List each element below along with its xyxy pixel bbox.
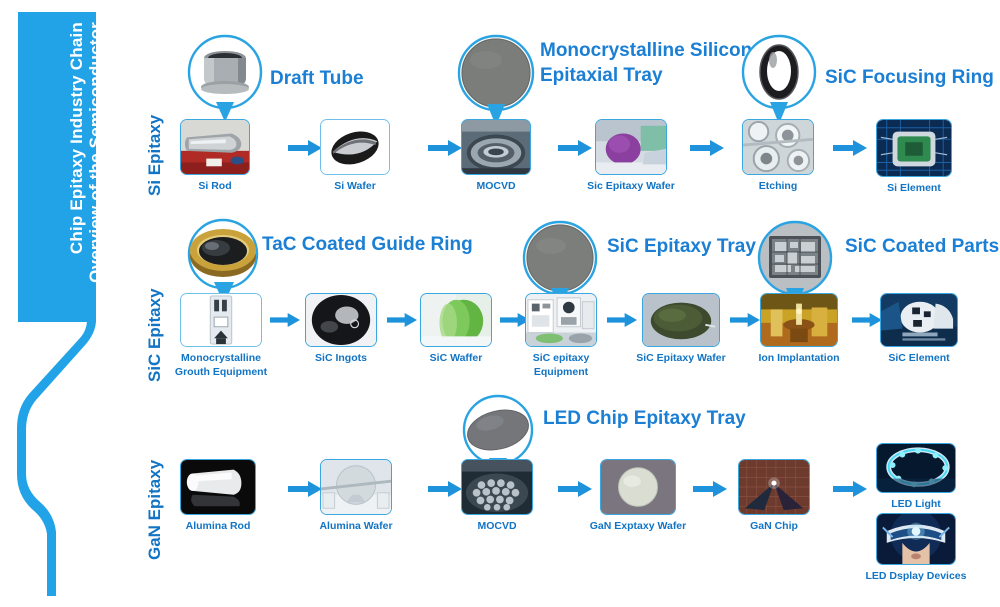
caption-led-light: LED Light [891, 497, 941, 511]
gan-epitaxy-wafer-photo [601, 460, 675, 514]
caption-growth-equipment: Monocrystalline Grouth Equipment [169, 351, 273, 379]
arrow-ingots-to-wafer [387, 312, 417, 333]
ion-implantation-photo [761, 294, 837, 346]
sic-element-photo [881, 294, 957, 346]
arrow-mocvd-to-gan-wafer [558, 481, 592, 502]
thumb-si-wafer[interactable] [320, 119, 390, 175]
step-gan-chip[interactable]: GaN Chip [738, 459, 810, 515]
callout-epitaxial-tray [456, 32, 536, 132]
step-led-display-devices[interactable]: LED Dsplay Devices [876, 513, 956, 565]
arrow-gan-wafer-to-chip [693, 481, 727, 502]
callout-draft-tube [186, 32, 264, 128]
thumb-sic-epitaxy-wafer[interactable] [642, 293, 720, 347]
step-sic-ingots[interactable]: SiC Ingots [305, 293, 377, 347]
caption-si-element: Si Element [887, 181, 941, 195]
thumb-ion-implantation[interactable] [760, 293, 838, 347]
step-si-element[interactable]: Si Element [876, 119, 952, 177]
callout-title-tac-guide-ring: TaC Coated Guide Ring [262, 232, 473, 257]
thumb-sic-element[interactable] [880, 293, 958, 347]
thumb-sic-epitaxy-equipment[interactable] [525, 293, 597, 347]
caption-sic-epitaxy-wafer-si: Sic Epitaxy Wafer [587, 179, 675, 193]
caption-sic-epitaxy-equipment: SiC epitaxy Equipment [509, 351, 613, 379]
sic-ingot-photo [306, 294, 376, 346]
thumb-sic-ingots[interactable] [305, 293, 377, 347]
thumb-alumina-wafer[interactable] [320, 459, 392, 515]
si-element-chip-photo [877, 120, 951, 176]
caption-gan-chip: GaN Chip [750, 519, 798, 533]
caption-ion-implantation: Ion Implantation [758, 351, 839, 365]
callout-focusing-ring [740, 32, 818, 130]
alumina-wafer-photo [321, 460, 391, 514]
thumb-led-light[interactable] [876, 443, 956, 493]
step-sic-element[interactable]: SiC Element [880, 293, 958, 347]
callout-title-sic-coated-parts: SiC Coated Parts [845, 234, 999, 259]
caption-gan-epitaxy-wafer: GaN Exptaxy Wafer [590, 519, 686, 533]
arrow-mocvd-to-sic-epitaxy-wafer [558, 140, 592, 161]
caption-etching: Etching [759, 179, 798, 193]
sic-epitaxy-wafer-green-photo [643, 294, 719, 346]
step-sic-epitaxy-wafer-si[interactable]: Sic Epitaxy Wafer [595, 119, 667, 175]
focusing-ring-photo [760, 45, 798, 99]
sic-epitaxy-tray-disc [527, 225, 593, 291]
caption-sic-element: SiC Element [888, 351, 949, 365]
led-light-strip-photo [877, 444, 955, 492]
etching-chamber-photo [743, 120, 813, 174]
arrow-alumina-rod-to-wafer [288, 481, 322, 502]
caption-mocvd-si: MOCVD [476, 179, 515, 193]
callout-title-focusing-ring: SiC Focusing Ring [825, 65, 994, 90]
si-wafer-photo [321, 120, 389, 174]
callout-title-sic-epitaxy-tray: SiC Epitaxy Tray [607, 234, 756, 259]
arrow-epi-wafer-to-ion [730, 312, 760, 333]
sic-epitaxy-wafer-photo [596, 120, 666, 174]
epitaxial-tray-disc [462, 39, 530, 107]
callout-title-epitaxial-tray: Monocrystalline Silicon Epitaxial Tray [540, 38, 752, 88]
led-display-device-photo [877, 514, 955, 564]
growth-equipment-photo [181, 294, 261, 346]
arrow-wafer-to-etching [690, 140, 724, 161]
thumb-mocvd-si[interactable] [461, 119, 531, 175]
caption-alumina-rod: Alumina Rod [186, 519, 251, 533]
step-etching[interactable]: Etching [742, 119, 814, 175]
title-banner: Overview of the Semiconductor Chip Epita… [0, 0, 160, 607]
si-rod-photo [181, 120, 249, 174]
thumb-growth-equipment[interactable] [180, 293, 262, 347]
arrow-si-rod-to-si-wafer [288, 140, 322, 161]
thumb-sic-waffer[interactable] [420, 293, 492, 347]
tac-guide-ring-photo [190, 229, 256, 277]
arrow-alumina-wafer-to-mocvd [428, 481, 462, 502]
caption-alumina-wafer: Alumina Wafer [319, 519, 392, 533]
step-ion-implantation[interactable]: Ion Implantation [760, 293, 838, 347]
thumb-alumina-rod[interactable] [180, 459, 256, 515]
row-label-sic-epitaxy: SiC Epitaxy [146, 272, 163, 382]
arrow-ion-to-sic-element [852, 312, 882, 333]
caption-si-wafer: Si Wafer [334, 179, 376, 193]
sic-wafer-photo [421, 294, 491, 346]
caption-mocvd-gan: MOCVD [477, 519, 516, 533]
step-si-rod[interactable]: Si Rod [180, 119, 250, 175]
arrow-growth-to-ingots [270, 312, 300, 333]
draft-tube-photo [201, 51, 249, 94]
infographic-canvas: Overview of the Semiconductor Chip Epita… [0, 0, 1000, 607]
step-sic-epitaxy-wafer[interactable]: SiC Epitaxy Wafer [642, 293, 720, 347]
caption-led-display-devices: LED Dsplay Devices [866, 569, 967, 583]
step-mocvd-si[interactable]: MOCVD [461, 119, 531, 175]
alumina-rod-photo [181, 460, 255, 514]
gan-chip-photo [739, 460, 809, 514]
thumb-gan-chip[interactable] [738, 459, 810, 515]
arrow-equipment-to-epi-wafer [607, 312, 637, 333]
callout-title-led-chip-epitaxy-tray: LED Chip Epitaxy Tray [543, 406, 746, 431]
arrow-etching-to-si-element [833, 140, 867, 161]
step-alumina-wafer[interactable]: Alumina Wafer [320, 459, 392, 515]
sic-coated-parts-photo [769, 236, 821, 278]
step-sic-epitaxy-equipment[interactable]: SiC epitaxy Equipment [525, 293, 597, 347]
mocvd-chamber-photo [462, 120, 530, 174]
thumb-etching[interactable] [742, 119, 814, 175]
caption-sic-ingots: SiC Ingots [315, 351, 367, 365]
thumb-si-rod[interactable] [180, 119, 250, 175]
arrow-si-wafer-to-mocvd [428, 140, 462, 161]
caption-si-rod: Si Rod [198, 179, 231, 193]
banner-shape [0, 0, 160, 607]
step-gan-epitaxy-wafer[interactable]: GaN Exptaxy Wafer [600, 459, 676, 515]
thumb-led-display-devices[interactable] [876, 513, 956, 565]
row-label-gan-epitaxy: GaN Epitaxy [146, 440, 163, 560]
row-label-si-epitaxy: Si Epitaxy [146, 96, 163, 196]
arrow-gan-chip-to-led [833, 481, 867, 502]
thumb-mocvd-gan[interactable] [461, 459, 533, 515]
mocvd-tray-photo [462, 460, 532, 514]
step-mocvd-gan[interactable]: MOCVD [461, 459, 533, 515]
step-alumina-rod[interactable]: Alumina Rod [180, 459, 256, 515]
thumb-si-element[interactable] [876, 119, 952, 177]
thumb-sic-epitaxy-wafer-si[interactable] [595, 119, 667, 175]
step-sic-waffer[interactable]: SiC Waffer [420, 293, 492, 347]
caption-sic-waffer: SiC Waffer [430, 351, 483, 365]
step-led-light[interactable]: LED Light [876, 443, 956, 493]
caption-sic-epitaxy-wafer: SiC Epitaxy Wafer [636, 351, 725, 365]
callout-title-draft-tube: Draft Tube [270, 66, 364, 91]
step-si-wafer[interactable]: Si Wafer [320, 119, 390, 175]
sic-epitaxy-equipment-photo [526, 294, 596, 346]
thumb-gan-epitaxy-wafer[interactable] [600, 459, 676, 515]
step-growth-equipment[interactable]: Monocrystalline Grouth Equipment [180, 293, 262, 347]
